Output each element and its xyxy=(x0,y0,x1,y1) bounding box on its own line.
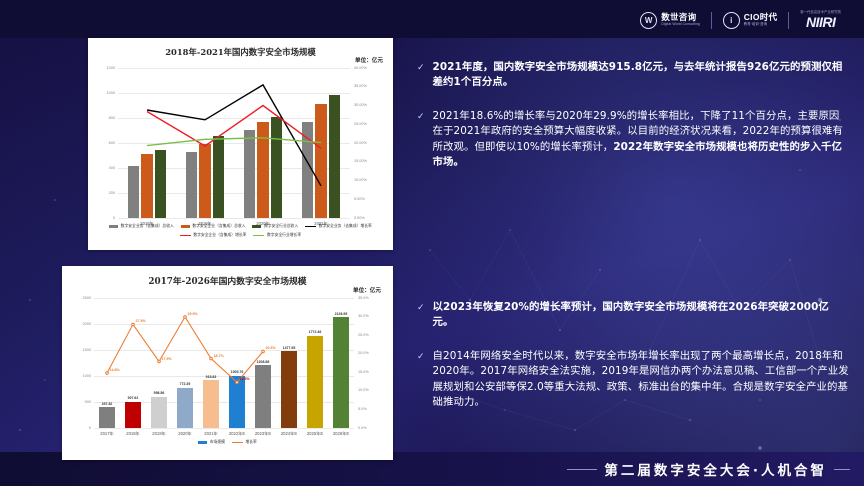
banner-rule-left xyxy=(567,469,597,470)
y2-axis-tick: 30.0% xyxy=(358,314,369,318)
x-axis-tick: 2017年 xyxy=(94,431,120,437)
bullet-item: ✓ 自2014年网络安全时代以来，数字安全市场年增长率出现了两个最高增长点，20… xyxy=(417,349,849,411)
growth-rate-label: 14.8% xyxy=(110,368,120,372)
logo-shushi-consulting: W 数世咨询 Digital World Consulting xyxy=(629,12,711,29)
legend-label: 数字安全业务（去集成）总收入 xyxy=(121,224,174,229)
chart-line-overlay xyxy=(94,298,354,428)
x-axis-tick: 2020年 xyxy=(172,431,198,437)
legend-item: 数字安全行业总收入 xyxy=(252,224,298,229)
chart-bottom-plot: 050010001500200025000.0%5.0%10.0%15.0%20… xyxy=(94,298,354,428)
logo-cio-era: i CIO时代 教育·培训·咨询 xyxy=(712,12,789,29)
growth-rate-label: 27.9% xyxy=(136,319,146,323)
x-axis-tick: 2023年E xyxy=(250,431,276,437)
legend-item: 数字安全企业（含集成）增长率 xyxy=(180,233,247,238)
chart-card-top: 2018年-2021年国内数字安全市场规模 单位：亿元 020040060080… xyxy=(88,38,393,250)
gridline xyxy=(94,428,354,429)
y2-axis-tick: 25.00% xyxy=(354,122,367,126)
check-icon: ✓ xyxy=(417,300,425,312)
y2-axis-tick: 20.00% xyxy=(354,141,367,145)
legend-label: 数字安全业务（去集成）增长率 xyxy=(319,224,372,229)
y2-axis-tick: 15.00% xyxy=(354,159,367,163)
y-axis-tick: 1500 xyxy=(70,348,91,352)
bullet-item: ✓ 以2023年恢复20%的增长率预计，国内数字安全市场规模将在2026年突破2… xyxy=(417,300,849,331)
chart-card-bottom: 2017年-2026年国内数字安全市场规模 单位：亿元 050010001500… xyxy=(62,266,393,460)
y2-axis-tick: 40.00% xyxy=(354,66,367,70)
y2-axis-tick: 5.00% xyxy=(354,197,365,201)
y-axis-tick: 800 xyxy=(94,116,115,120)
bullet-list-bottom: ✓ 以2023年恢复20%的增长率预计，国内数字安全市场规模将在2026年突破2… xyxy=(417,300,849,428)
legend-swatch-line xyxy=(180,235,191,237)
logo-shushi-en: Digital World Consulting xyxy=(661,23,700,26)
chart-top-legend: 数字安全业务（去集成）总收入数字安全企业（含集成）总收入数字安全行业总收入数字安… xyxy=(88,224,393,238)
legend-item: 增长率 xyxy=(232,440,257,445)
y-axis-tick: 1000 xyxy=(94,91,115,95)
banner-title: 第二届数字安全大会·人机合智 xyxy=(604,459,827,479)
x-axis-tick: 2021年 xyxy=(198,431,224,437)
legend-swatch-bar xyxy=(198,441,207,444)
y2-axis-tick: 10.0% xyxy=(358,388,369,392)
chart-top-plot: 0200400600800100012000.00%5.00%10.00%15.… xyxy=(118,68,350,218)
y2-axis-tick: 30.00% xyxy=(354,103,367,107)
y2-axis-tick: 25.0% xyxy=(358,333,369,337)
y2-axis-tick: 35.0% xyxy=(358,296,369,300)
bullet-item: ✓ 2021年18.6%的增长率与2020年29.9%的增长率相比，下降了11个… xyxy=(417,109,849,171)
growth-rate-label: 17.9% xyxy=(162,357,172,361)
y2-axis-tick: 35.00% xyxy=(354,84,367,88)
x-axis-tick: 2026年E xyxy=(328,431,354,437)
legend-swatch-bar xyxy=(252,225,261,228)
legend-item: 数字安全业务（去集成）增长率 xyxy=(305,224,372,229)
y-axis-tick: 500 xyxy=(70,400,91,404)
legend-label: 市场规模 xyxy=(210,440,225,445)
legend-label: 数字安全行业总收入 xyxy=(264,224,298,229)
growth-rate-label: 20.6% xyxy=(266,346,276,350)
chart-line-overlay xyxy=(118,68,350,218)
growth-rate-label: 12.3% xyxy=(240,377,250,381)
check-icon: ✓ xyxy=(417,349,425,361)
banner-rule-right xyxy=(834,469,850,470)
x-axis-tick: 2022年E xyxy=(224,431,250,437)
x-axis-tick: 2019年 xyxy=(146,431,172,437)
legend-label: 数字安全企业（含集成）总收入 xyxy=(192,224,245,229)
bullet-text: 2021年18.6%的增长率与2020年29.9%的增长率相比，下降了11个百分… xyxy=(433,109,849,171)
cio-mark-icon: i xyxy=(723,12,740,29)
growth-rate-label: 29.9% xyxy=(188,312,198,316)
y-axis-tick: 400 xyxy=(94,166,115,170)
y-axis-tick: 0 xyxy=(94,216,115,220)
legend-label: 数字安全企业（含集成）增长率 xyxy=(193,233,246,238)
bullet-text: 2021年度，国内数字安全市场规模达915.8亿元，与去年统计报告926亿元的预… xyxy=(433,60,849,91)
legend-item: 数字安全行业增长率 xyxy=(253,233,301,238)
y2-axis-tick: 0.0% xyxy=(358,426,367,430)
logo-bar: W 数世咨询 Digital World Consulting i CIO时代 … xyxy=(629,7,852,33)
logo-shushi-cn: 数世咨询 xyxy=(661,13,700,22)
chart-bottom-unit: 单位：亿元 xyxy=(353,286,381,294)
footer-banner: 第二届数字安全大会·人机合智 xyxy=(0,452,864,486)
chart-bottom-title: 2017年-2026年国内数字安全市场规模 xyxy=(62,266,393,287)
bullet-item: ✓ 2021年度，国内数字安全市场规模达915.8亿元，与去年统计报告926亿元… xyxy=(417,60,849,91)
bullet-text: 自2014年网络安全时代以来，数字安全市场年增长率出现了两个最高增长点，2018… xyxy=(433,349,849,411)
legend-swatch-bar xyxy=(181,225,190,228)
y2-axis-tick: 5.0% xyxy=(358,407,367,411)
y-axis-tick: 600 xyxy=(94,141,115,145)
legend-label: 增长率 xyxy=(245,440,256,445)
y-axis-tick: 1200 xyxy=(94,66,115,70)
logo-niiri-cn: NIIRI xyxy=(806,15,835,29)
legend-swatch-bar xyxy=(109,225,118,228)
y2-axis-tick: 15.0% xyxy=(358,370,369,374)
x-axis-tick: 2024年E xyxy=(276,431,302,437)
logo-cio-cn: CIO时代 xyxy=(744,13,778,22)
legend-swatch-line xyxy=(305,226,316,228)
y-axis-tick: 1000 xyxy=(70,374,91,378)
bullet-list-top: ✓ 2021年度，国内数字安全市场规模达915.8亿元，与去年统计报告926亿元… xyxy=(417,60,849,188)
legend-swatch-line xyxy=(232,442,243,444)
y2-axis-tick: 10.00% xyxy=(354,178,367,182)
bullet-text: 以2023年恢复20%的增长率预计，国内数字安全市场规模将在2026年突破200… xyxy=(433,300,849,331)
chart-bottom-legend: 市场规模增长率 xyxy=(62,440,393,445)
legend-item: 市场规模 xyxy=(198,440,225,445)
x-axis-tick: 2025年E xyxy=(302,431,328,437)
legend-item: 数字安全业务（去集成）总收入 xyxy=(109,224,174,229)
y-axis-tick: 0 xyxy=(70,426,91,430)
y-axis-tick: 200 xyxy=(94,191,115,195)
y2-axis-tick: 0.00% xyxy=(354,216,365,220)
logo-cio-en: 教育·培训·咨询 xyxy=(744,23,778,26)
logo-niiri: 新一代信息技术产业研究院 NIIRI xyxy=(789,11,852,28)
chart-top-title: 2018年-2021年国内数字安全市场规模 xyxy=(88,38,393,58)
y-axis-tick: 2000 xyxy=(70,322,91,326)
chart-top-unit: 单位：亿元 xyxy=(355,56,383,64)
check-icon: ✓ xyxy=(417,60,425,72)
legend-item: 数字安全企业（含集成）总收入 xyxy=(181,224,246,229)
y-axis-tick: 2500 xyxy=(70,296,91,300)
growth-rate-label: 18.7% xyxy=(214,354,224,358)
x-axis-tick: 2018年 xyxy=(120,431,146,437)
shushi-mark-icon: W xyxy=(640,12,657,29)
legend-label: 数字安全行业增长率 xyxy=(267,233,301,238)
gridline xyxy=(118,218,350,219)
legend-swatch-line xyxy=(253,235,264,237)
y2-axis-tick: 20.0% xyxy=(358,351,369,355)
check-icon: ✓ xyxy=(417,109,425,121)
